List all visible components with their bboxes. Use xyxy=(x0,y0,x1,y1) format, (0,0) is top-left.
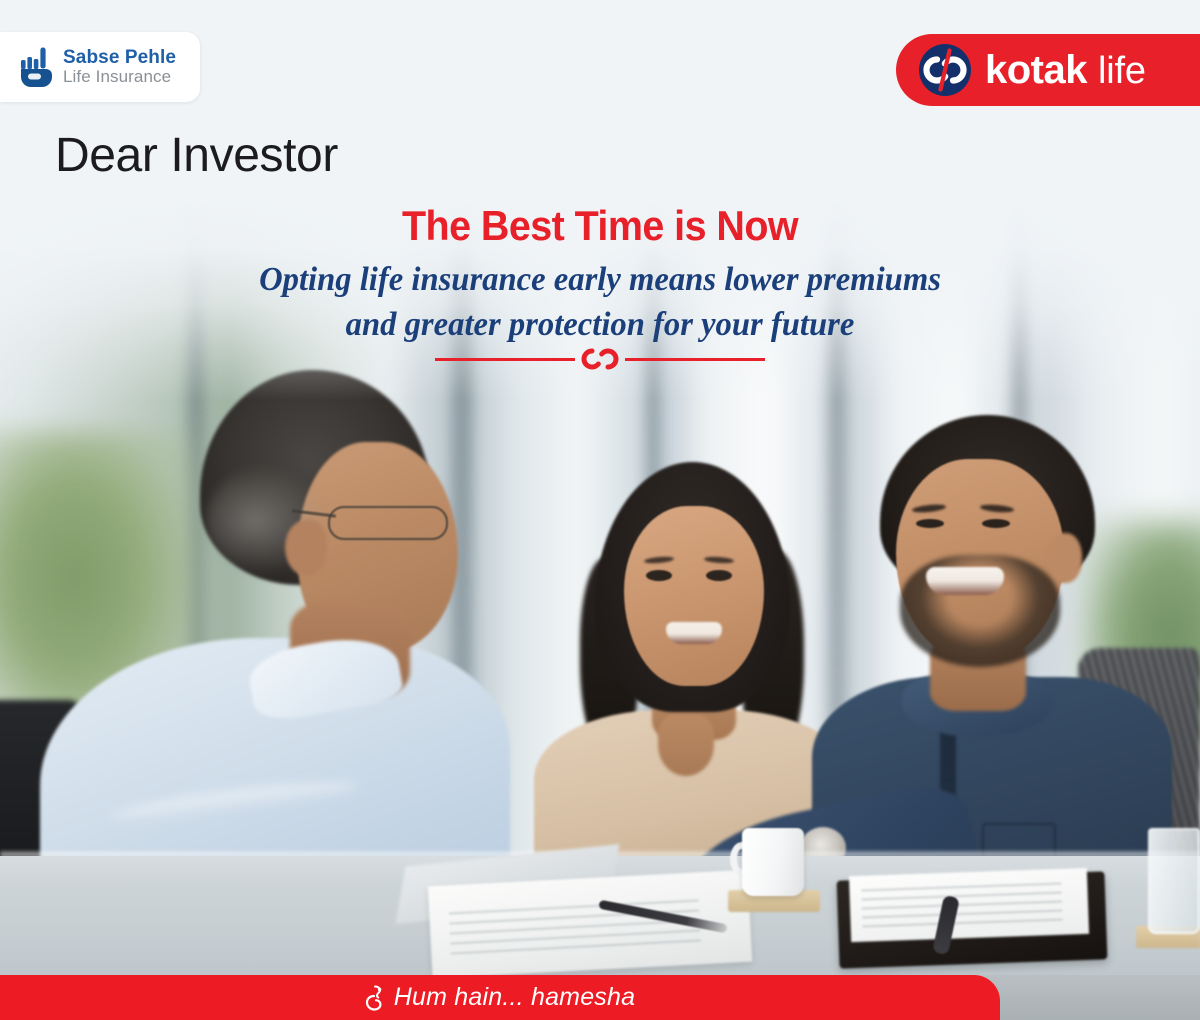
decorative-divider xyxy=(0,344,1200,374)
subheadline-line-2: and greater protection for your future xyxy=(24,303,1176,348)
subheadline-text: Opting life insurance early means lower … xyxy=(24,258,1176,348)
kotak-infinity-icon xyxy=(918,43,972,97)
divider-line-left xyxy=(435,358,575,361)
headline-text: The Best Time is Now xyxy=(36,202,1164,250)
advertisement-creative: Sabse Pehle Life Insurance kotak life De… xyxy=(0,0,1200,1020)
folder-text-lines xyxy=(861,883,1062,934)
coffee-mug xyxy=(742,828,804,896)
kotak-life-logo[interactable]: kotak life xyxy=(896,34,1200,106)
kotak-infinity-icon xyxy=(579,344,621,374)
footer-tagline-text: Hum hain... hamesha xyxy=(394,983,635,1012)
person-man-right xyxy=(790,415,1190,885)
sabse-pehle-line1: Sabse Pehle xyxy=(63,48,176,68)
raised-hand-index-finger-icon xyxy=(20,47,54,87)
subheadline-line-1: Opting life insurance early means lower … xyxy=(24,258,1176,303)
kotak-wordmark: kotak xyxy=(985,48,1087,93)
water-glass xyxy=(1148,828,1200,934)
divider-line-right xyxy=(625,358,765,361)
sabse-pehle-logo[interactable]: Sabse Pehle Life Insurance xyxy=(0,32,200,102)
kotak-shield-icon xyxy=(365,985,385,1011)
sabse-pehle-line2: Life Insurance xyxy=(63,68,176,86)
footer-tagline-bar: Hum hain... hamesha xyxy=(0,975,1000,1020)
salutation-text: Dear Investor xyxy=(55,128,338,183)
life-wordmark: life xyxy=(1098,50,1146,93)
